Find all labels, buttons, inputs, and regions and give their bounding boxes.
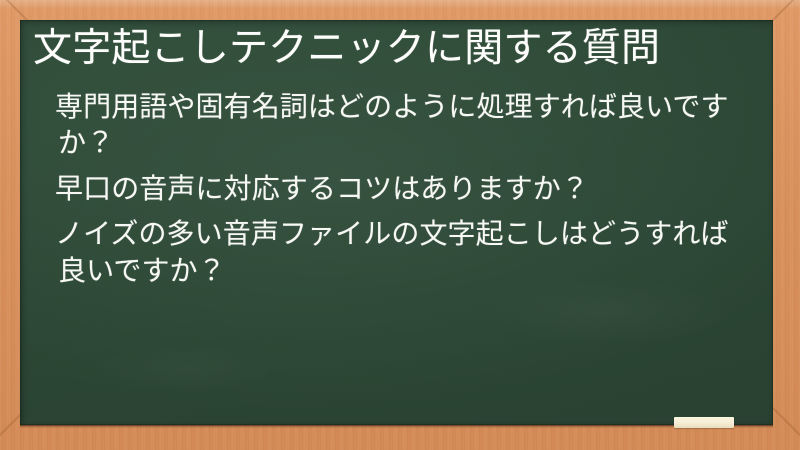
chalkboard-surface: 文字起こしテクニックに関する質問 専門用語や固有名詞はどのように処理すれば良いで… (20, 20, 773, 425)
chalkboard-slide: 文字起こしテクニックに関する質問 専門用語や固有名詞はどのように処理すれば良いで… (0, 0, 800, 450)
frame-top-highlight (0, 0, 800, 9)
question-item-2: 早口の音声に対応するコツはありますか？ (58, 171, 743, 207)
board-content: 文字起こしテクニックに関する質問 専門用語や固有名詞はどのように処理すれば良いで… (20, 20, 773, 425)
question-item-3: ノイズの多い音声ファイルの文字起こしはどうすれば良いですか？ (58, 216, 743, 289)
question-list: 専門用語や固有名詞はどのように処理すれば良いですか？ 早口の音声に対応するコツは… (33, 89, 743, 289)
question-item-1: 専門用語や固有名詞はどのように処理すれば良いですか？ (58, 89, 743, 162)
slide-title: 文字起こしテクニックに関する質問 (33, 26, 743, 72)
chalk-stick-icon (674, 417, 734, 428)
